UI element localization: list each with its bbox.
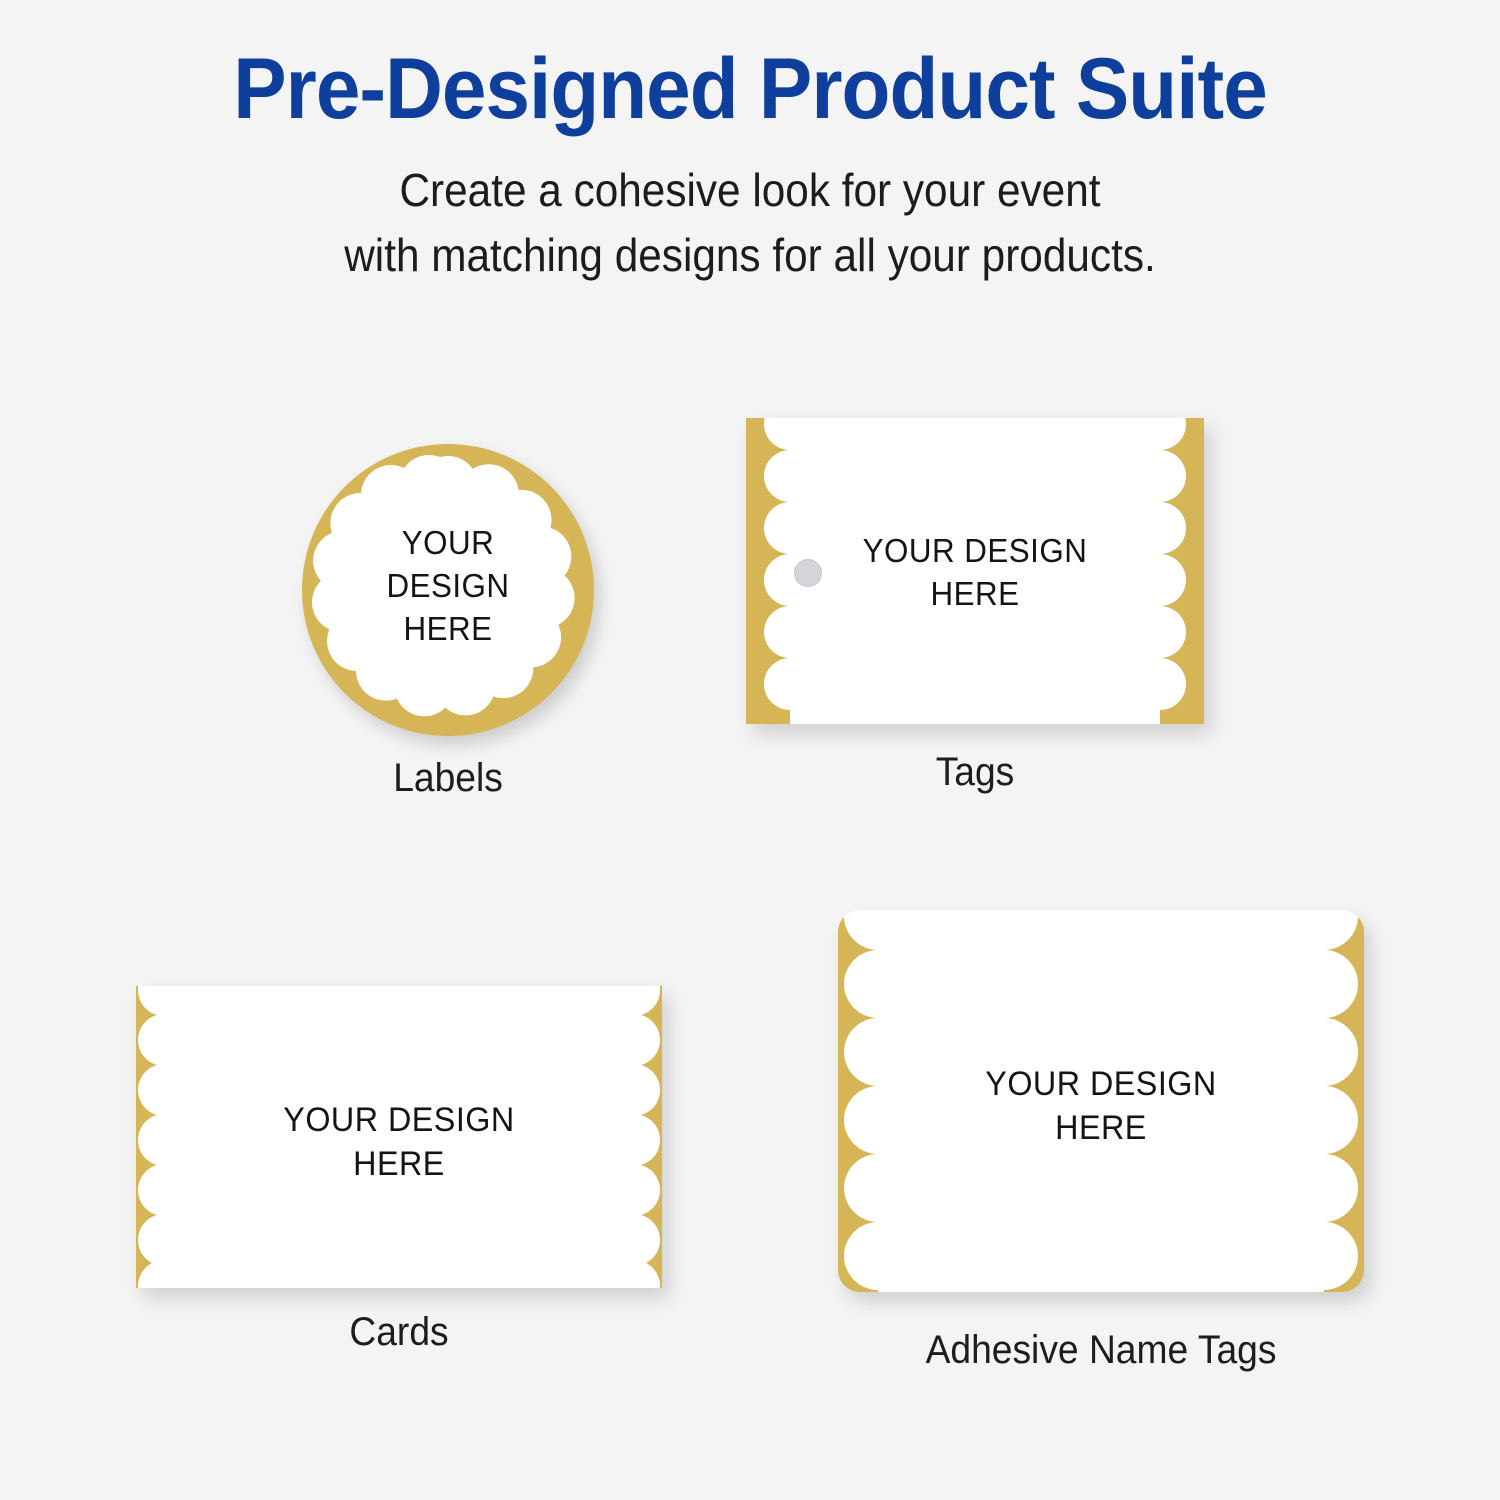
product-adhesive-name-tags[interactable]: YOUR DESIGN HERE Adhesive Name Tags: [838, 910, 1364, 1292]
hole-punch-icon: [794, 559, 822, 587]
page-subtitle: Create a cohesive look for your event wi…: [60, 132, 1440, 289]
card-graphic: [136, 986, 662, 1288]
round-label-graphic: [302, 444, 594, 736]
page-subtitle-line-2: with matching designs for all your produ…: [344, 229, 1156, 281]
product-labels[interactable]: YOUR DESIGN HERE Labels: [302, 444, 594, 736]
caption-tags: Tags: [762, 750, 1188, 795]
page-header: Pre-Designed Product Suite Create a cohe…: [0, 0, 1500, 289]
page-subtitle-line-1: Create a cohesive look for your event: [399, 164, 1100, 216]
tag-graphic: [746, 418, 1204, 724]
scalloped-circle-icon: [302, 444, 594, 736]
caption-adhesive-name-tags: Adhesive Name Tags: [856, 1328, 1345, 1373]
caption-labels: Labels: [312, 756, 584, 801]
product-cards[interactable]: YOUR DESIGN HERE Cards: [136, 986, 662, 1288]
product-tags[interactable]: YOUR DESIGN HERE Tags: [746, 418, 1204, 724]
scalloped-edge-bands-icon: [838, 910, 1364, 1292]
page-title: Pre-Designed Product Suite: [53, 0, 1448, 132]
name-tag-graphic: [838, 910, 1364, 1292]
caption-cards: Cards: [154, 1310, 643, 1355]
scalloped-edge-bands-icon: [136, 986, 662, 1288]
